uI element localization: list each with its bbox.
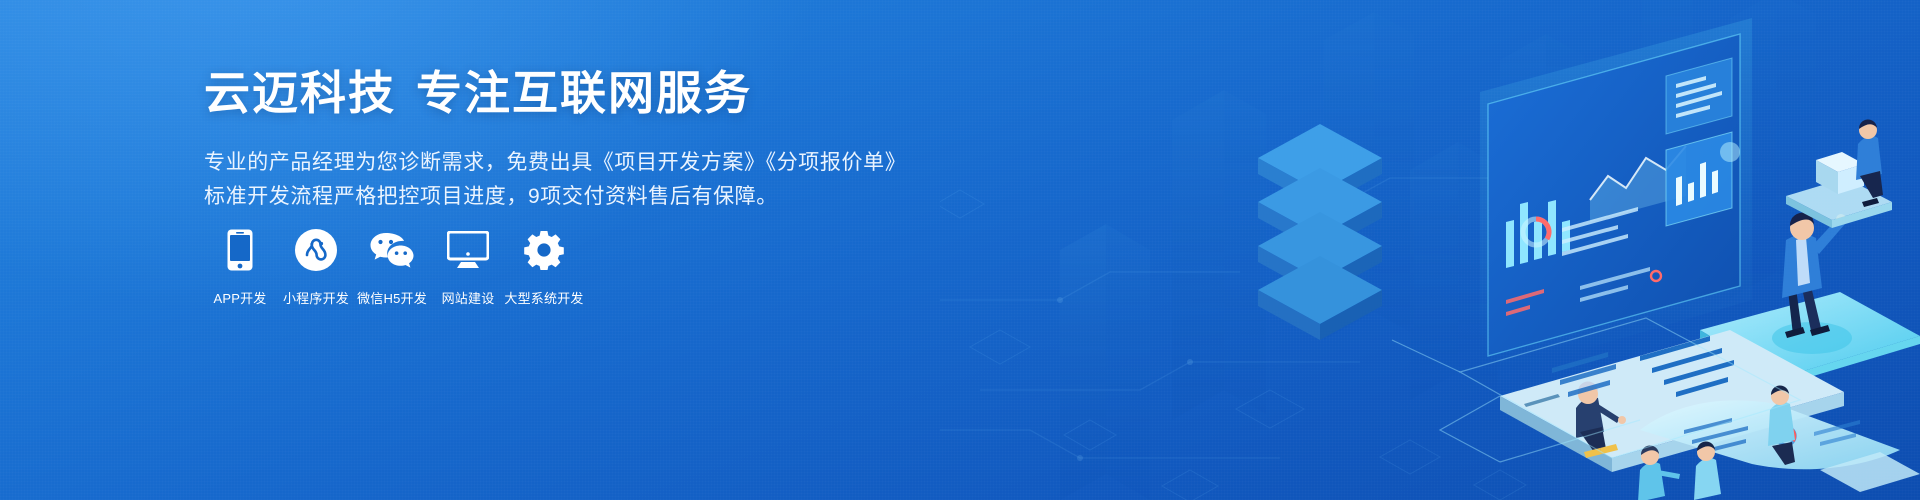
mini-program-icon <box>294 228 338 272</box>
service-item-wechat-h5[interactable]: 微信H5开发 <box>356 228 428 307</box>
service-item-website[interactable]: 网站建设 <box>432 228 504 307</box>
gear-icon <box>522 228 566 272</box>
service-item-miniprogram[interactable]: 小程序开发 <box>280 228 352 307</box>
page-title: 云迈科技专注互联网服务 <box>204 66 906 120</box>
headline-tagline: 专注互联网服务 <box>416 67 752 119</box>
headline-brand: 云迈科技 <box>204 67 396 119</box>
subtitle-line-1: 专业的产品经理为您诊断需求，免费出具《项目开发方案》《分项报价单》 <box>204 151 906 174</box>
service-item-large-system[interactable]: 大型系统开发 <box>508 228 580 307</box>
wechat-icon <box>370 228 414 272</box>
service-label: 大型系统开发 <box>504 288 583 307</box>
hero-copy: 云迈科技专注互联网服务 专业的产品经理为您诊断需求，免费出具《项目开发方案》《分… <box>204 66 906 214</box>
subtitle-line-2: 标准开发流程严格把控项目进度，9项交付资料售后有保障。 <box>204 180 906 214</box>
illustration <box>940 0 1920 500</box>
hero-banner: 云迈科技专注互联网服务 专业的产品经理为您诊断需求，免费出具《项目开发方案》《分… <box>0 0 1920 500</box>
hero-subtitle: 专业的产品经理为您诊断需求，免费出具《项目开发方案》《分项报价单》 标准开发流程… <box>204 146 906 214</box>
mobile-phone-icon <box>218 228 262 272</box>
service-label: APP开发 <box>213 288 266 307</box>
service-item-app[interactable]: APP开发 <box>204 228 276 307</box>
service-list: APP开发 小程序开发 <box>204 228 584 307</box>
service-label: 微信H5开发 <box>357 288 427 307</box>
service-label: 小程序开发 <box>283 288 349 307</box>
monitor-icon <box>446 228 490 272</box>
service-label: 网站建设 <box>442 288 495 307</box>
